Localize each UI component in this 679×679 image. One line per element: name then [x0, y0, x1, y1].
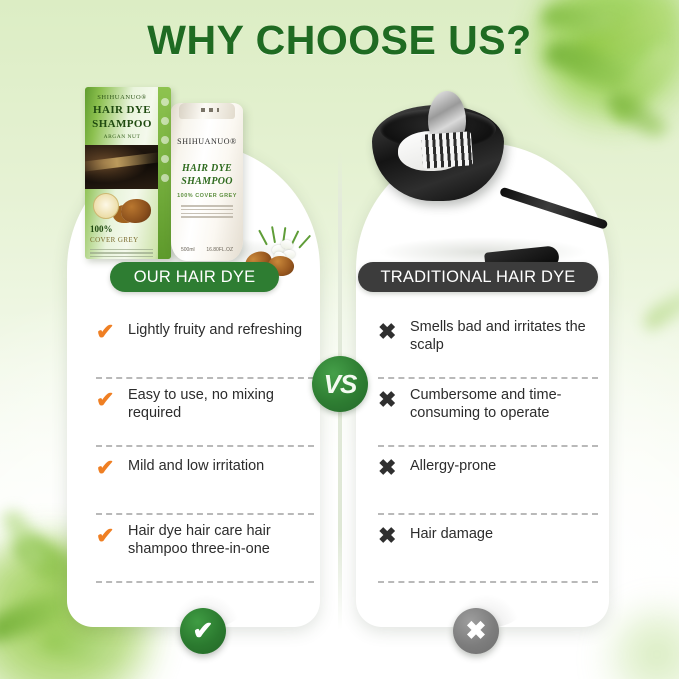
verdict-badge-positive: ✔ [180, 608, 226, 654]
carton-title-line1: HAIR DYE [89, 104, 155, 116]
list-item: ✔ Easy to use, no mixing required [96, 379, 314, 447]
list-item-label: Mild and low irritation [128, 455, 264, 476]
applicator-teeth [421, 131, 473, 168]
verdict-badge-negative: ✖ [453, 608, 499, 654]
list-item-label: Allergy-prone [410, 455, 496, 476]
column-header-traditional: TRADITIONAL HAIR DYE [358, 262, 598, 292]
product-image-our-hair-dye: SHIHUANUO® HAIR DYE SHAMPOO ARGAN NUT 10… [67, 143, 320, 271]
carton-seal-icon [93, 193, 119, 219]
leaf-icon [1, 506, 47, 570]
cross-icon: ✖ [378, 523, 410, 547]
bottle-brand: SHIHUANUO® [171, 137, 243, 146]
argan-nut-icon [121, 199, 151, 223]
product-image-traditional-tools [356, 143, 609, 271]
page-title: WHY CHOOSE US? [0, 17, 679, 64]
bottle-cap [179, 103, 235, 119]
bottle-title-line1: HAIR DYE [171, 163, 243, 174]
carton-spine [158, 87, 171, 259]
check-icon: ✔ [96, 387, 128, 411]
bottle-title-line2: SHAMPOO [171, 176, 243, 187]
check-icon: ✔ [96, 319, 128, 343]
leaf-icon [640, 288, 679, 332]
carton-variant: ARGAN NUT [89, 134, 155, 140]
bottle-fineprint [181, 203, 233, 218]
list-item-label: Cumbersome and time-consuming to operate [410, 387, 598, 422]
list-item-label: Smells bad and irritates the scalp [410, 319, 598, 354]
leaf-icon [42, 625, 119, 672]
cross-icon: ✖ [378, 319, 410, 343]
brush-handle [499, 187, 608, 230]
leaf-icon [605, 87, 669, 144]
cross-icon: ✖ [378, 455, 410, 479]
feature-list-traditional: ✖ Smells bad and irritates the scalp ✖ C… [378, 311, 598, 583]
list-item-label: Hair dye hair care hair shampoo three-in… [128, 523, 314, 558]
list-item: ✔ Hair dye hair care hair shampoo three-… [96, 515, 314, 583]
list-item: ✔ Lightly fruity and refreshing [96, 311, 314, 379]
bottle-volume-row: 500ml 16.80FL.OZ [181, 247, 233, 253]
carton-claim-percent: 100% [90, 224, 113, 234]
list-item-label: Hair damage [410, 523, 493, 544]
applicator-comb-icon [420, 91, 474, 187]
check-icon: ✔ [96, 455, 128, 479]
list-item: ✖ Cumbersome and time-consuming to opera… [378, 379, 598, 447]
list-item: ✖ Smells bad and irritates the scalp [378, 311, 598, 379]
list-item: ✔ Mild and low irritation [96, 447, 314, 515]
list-item-label: Lightly fruity and refreshing [128, 319, 302, 340]
check-icon: ✔ [96, 523, 128, 547]
leaf-icon [0, 591, 72, 644]
carton-title-line2: SHAMPOO [89, 118, 155, 130]
list-item: ✖ Allergy-prone [378, 447, 598, 515]
column-header-ours: OUR HAIR DYE [110, 262, 279, 292]
feature-list-ours: ✔ Lightly fruity and refreshing ✔ Easy t… [96, 311, 314, 583]
list-item-label: Easy to use, no mixing required [128, 387, 314, 422]
shampoo-carton: SHIHUANUO® HAIR DYE SHAMPOO ARGAN NUT 10… [85, 87, 171, 259]
infographic-canvas: WHY CHOOSE US? SHIHUANUO® HAIR DYE SHAMP… [0, 0, 679, 679]
shampoo-bottle: SHIHUANUO® HAIR DYE SHAMPOO 100% COVER G… [171, 103, 243, 261]
carton-claim-text: COVER GREY [90, 236, 139, 244]
cross-icon: ✖ [378, 387, 410, 411]
bottle-volume: 500ml [181, 247, 195, 253]
list-item: ✖ Hair damage [378, 515, 598, 583]
vs-badge: VS [312, 356, 368, 412]
bottle-claim: 100% COVER GREY [171, 193, 243, 199]
carton-fineprint [90, 247, 153, 258]
leaf-cluster-bottom-right [603, 605, 679, 679]
carton-hair-graphic [85, 145, 161, 189]
bottle-volume-alt: 16.80FL.OZ [206, 247, 233, 253]
carton-brand: SHIHUANUO® [89, 94, 155, 101]
